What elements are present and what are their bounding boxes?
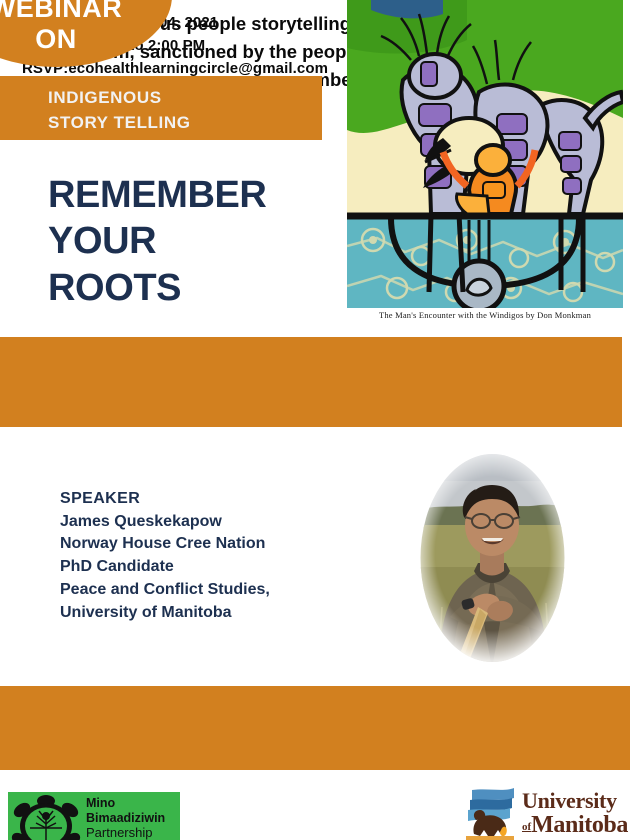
topic-line-1: INDIGENOUS xyxy=(48,86,191,111)
topic-bar: INDIGENOUS STORY TELLING xyxy=(0,76,322,140)
university-logo-text: University ofManitoba xyxy=(522,790,628,837)
headline-line-2: YOUR xyxy=(48,218,266,264)
university-of-manitoba-logo: University ofManitoba xyxy=(462,786,626,840)
webinar-badge-text: WEBINAR ON xyxy=(0,0,172,67)
mino-logo-text: Mino Bimaadiziwin Partnership xyxy=(86,796,165,840)
bison-icon xyxy=(462,786,518,840)
speaker-name: James Queskekapow xyxy=(60,511,270,534)
speaker-institution: University of Manitoba xyxy=(60,602,270,625)
speaker-label: SPEAKER xyxy=(60,488,270,511)
university-of-word: of xyxy=(522,821,531,833)
speaker-role: PhD Candidate xyxy=(60,556,270,579)
webinar-label-line1: WEBINAR xyxy=(0,0,122,23)
mino-line-2: Bimaadiziwin xyxy=(86,811,165,826)
topic-line-2: STORY TELLING xyxy=(48,111,191,136)
speaker-portrait xyxy=(410,447,575,669)
turtle-icon xyxy=(10,794,82,840)
university-line-2: Manitoba xyxy=(531,812,628,838)
topic-bar-text: INDIGENOUS STORY TELLING xyxy=(48,86,191,135)
mino-line-1: Mino xyxy=(86,796,165,811)
mino-line-3: Partnership xyxy=(86,825,165,840)
headline-line-1: REMEMBER xyxy=(48,172,266,218)
artwork-caption: The Man's Encounter with the Windigos by… xyxy=(347,310,623,320)
artwork-image xyxy=(347,0,623,308)
quote-band xyxy=(0,337,622,427)
headline-line-3: ROOTS xyxy=(48,265,266,311)
speaker-details: SPEAKER James Queskekapow Norway House C… xyxy=(60,488,270,624)
speaker-program: Peace and Conflict Studies, xyxy=(60,579,270,602)
woodland-art-illustration xyxy=(347,0,623,308)
university-line-2-row: ofManitoba xyxy=(522,813,628,837)
page-title: REMEMBER YOUR ROOTS xyxy=(48,172,266,311)
speaker-nation: Norway House Cree Nation xyxy=(60,533,270,556)
mino-bimaadiziwin-logo: Mino Bimaadiziwin Partnership xyxy=(8,792,180,840)
university-line-1: University xyxy=(522,790,628,812)
portrait-illustration xyxy=(410,447,575,669)
event-details-band xyxy=(0,686,630,770)
webinar-badge: WEBINAR ON xyxy=(0,0,172,67)
webinar-label-line2: ON xyxy=(35,25,77,54)
